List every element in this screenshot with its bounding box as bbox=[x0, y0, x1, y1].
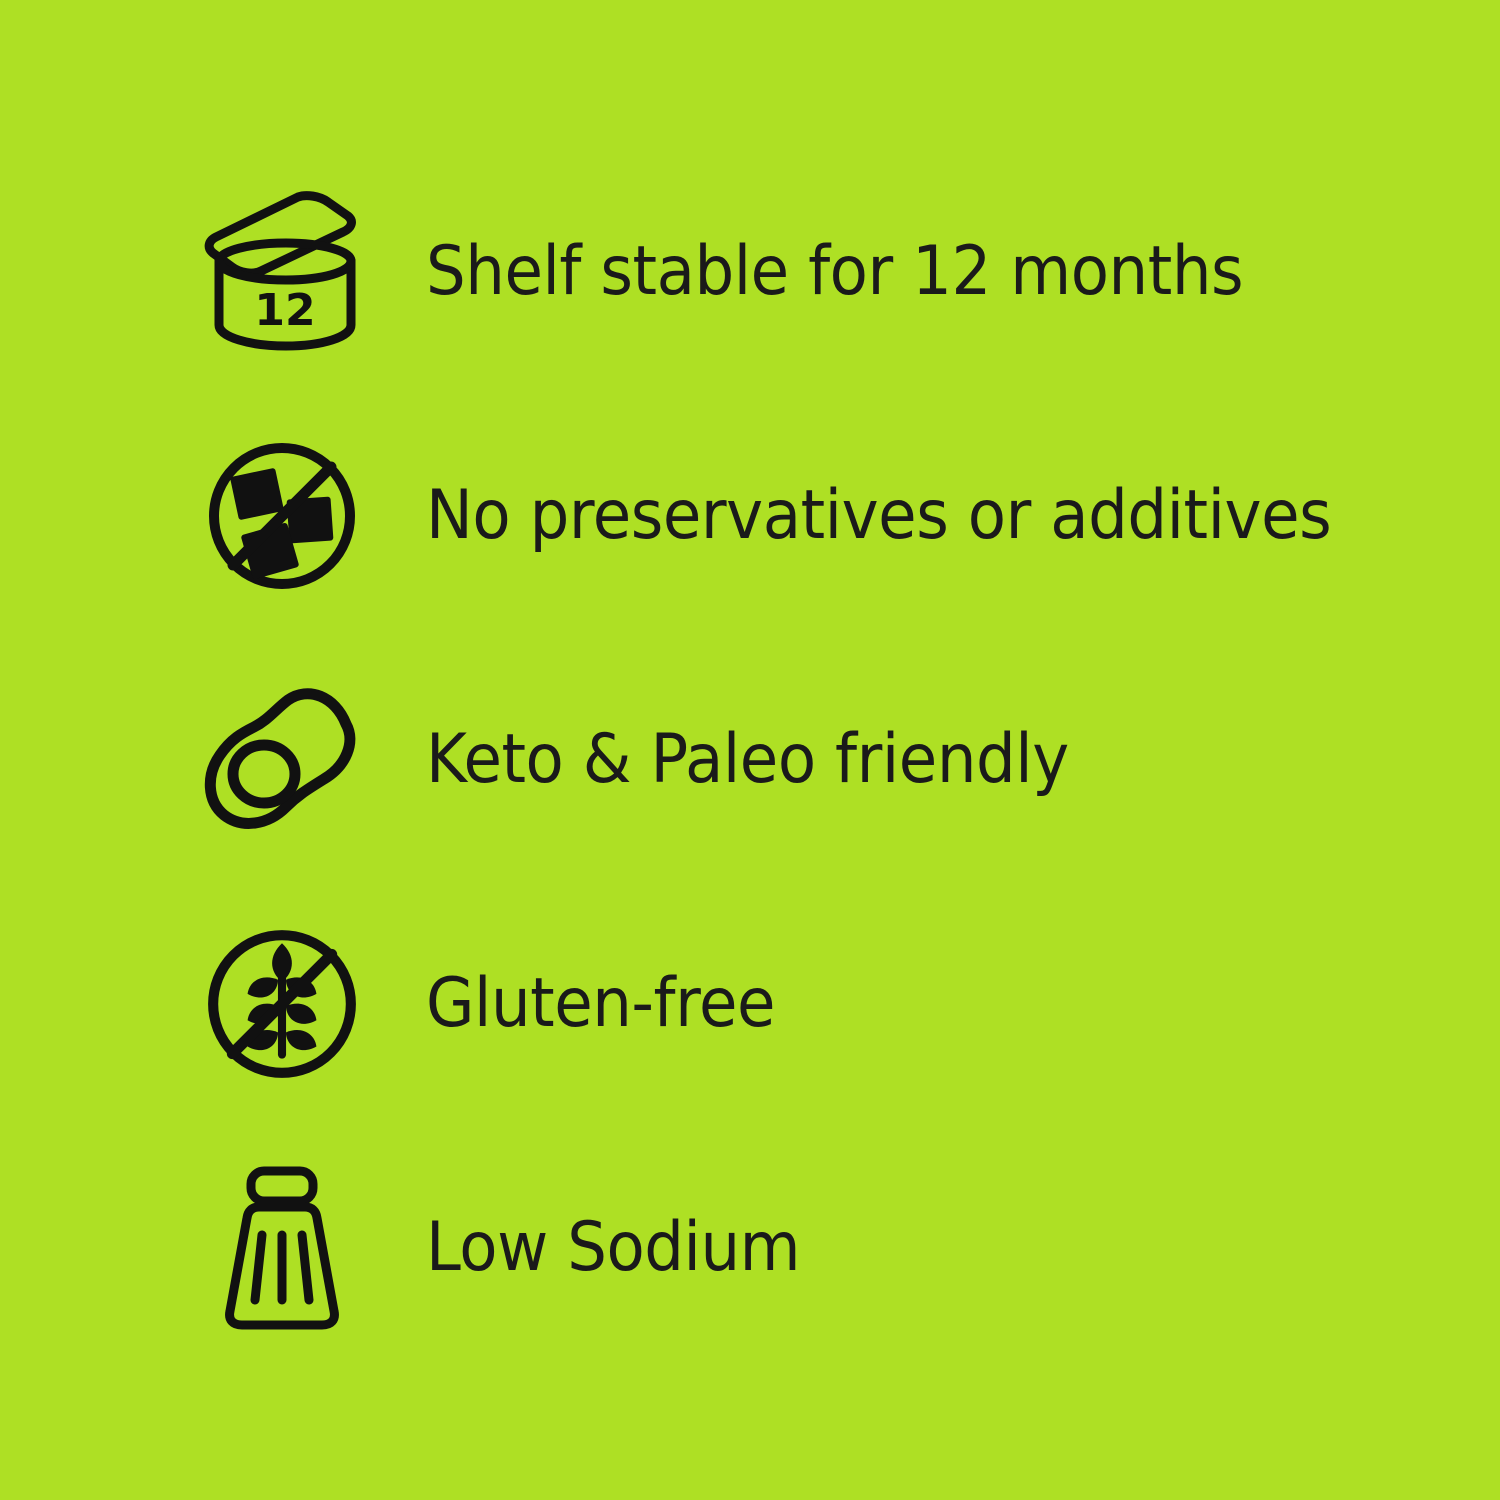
avocado-pit bbox=[233, 745, 295, 803]
gluten-free-wheat-icon bbox=[196, 909, 368, 1099]
product-feature-list: 12 Shelf stable for 12 months No preserv… bbox=[0, 0, 1500, 1500]
feature-row: 12 Shelf stable for 12 months bbox=[0, 150, 1500, 394]
open-can-12-months-icon: 12 bbox=[196, 177, 368, 367]
feature-label: Gluten-free bbox=[426, 968, 775, 1039]
shelf-life-months-badge: 12 bbox=[254, 285, 315, 336]
feature-row: Low Sodium bbox=[0, 1126, 1500, 1370]
feature-label: Keto & Paleo friendly bbox=[426, 724, 1069, 795]
shaker-cap bbox=[251, 1171, 313, 1201]
salt-shaker-icon bbox=[196, 1153, 368, 1343]
feature-row: No preservatives or additives bbox=[0, 394, 1500, 638]
avocado-half-icon bbox=[196, 665, 368, 855]
feature-row: Gluten-free bbox=[0, 882, 1500, 1126]
feature-label: No preservatives or additives bbox=[426, 480, 1331, 551]
feature-row: Keto & Paleo friendly bbox=[0, 638, 1500, 882]
feature-label: Low Sodium bbox=[426, 1212, 800, 1283]
feature-label: Shelf stable for 12 months bbox=[426, 236, 1243, 307]
no-preservatives-icon bbox=[196, 421, 368, 611]
